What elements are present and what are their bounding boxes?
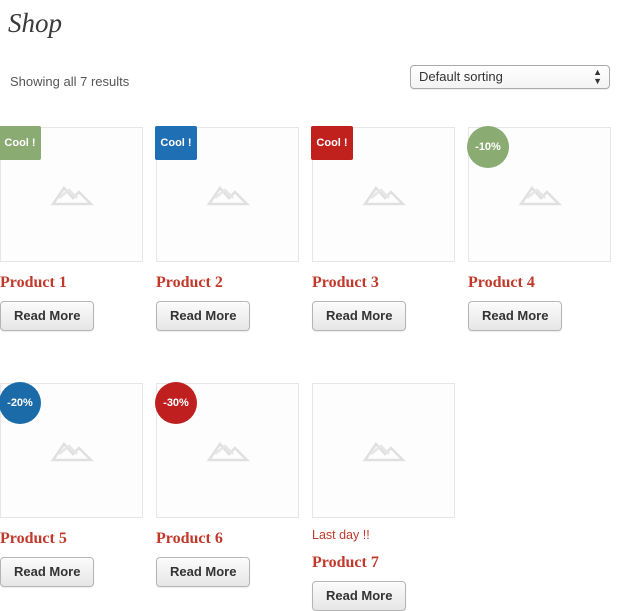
product-title-4[interactable]: Product 4 — [468, 274, 611, 292]
product-badge-3: Cool ! — [311, 126, 353, 160]
product-thumbnail-5[interactable]: -20% — [0, 383, 143, 518]
product-thumbnail-2[interactable]: Cool ! — [156, 127, 299, 262]
product-title-5[interactable]: Product 5 — [0, 530, 143, 548]
product-card-1[interactable]: Cool ! Product 1 Read More — [0, 127, 143, 331]
read-more-button-7[interactable]: Read More — [312, 581, 406, 611]
read-more-button-1[interactable]: Read More — [0, 301, 94, 331]
product-thumbnail-3[interactable]: Cool ! — [312, 127, 455, 262]
result-count: Showing all 7 results — [10, 74, 129, 89]
read-more-button-6[interactable]: Read More — [156, 557, 250, 587]
product-title-6[interactable]: Product 6 — [156, 530, 299, 548]
product-title-2[interactable]: Product 2 — [156, 274, 299, 292]
product-card-7[interactable]: Last day !! Product 7 Read More — [312, 383, 455, 611]
read-more-button-3[interactable]: Read More — [312, 301, 406, 331]
product-badge-2: Cool ! — [155, 126, 197, 160]
product-card-6[interactable]: -30% Product 6 Read More — [156, 383, 299, 587]
read-more-button-2[interactable]: Read More — [156, 301, 250, 331]
read-more-button-5[interactable]: Read More — [0, 557, 94, 587]
product-badge-1: Cool ! — [0, 126, 41, 160]
product-card-2[interactable]: Cool ! Product 2 Read More — [156, 127, 299, 331]
sort-select-value: Default sorting — [419, 69, 503, 84]
product-title-3[interactable]: Product 3 — [312, 274, 455, 292]
product-title-1[interactable]: Product 1 — [0, 274, 143, 292]
shop-page: Shop Showing all 7 results Default sorti… — [0, 0, 618, 602]
read-more-button-4[interactable]: Read More — [468, 301, 562, 331]
product-thumbnail-4[interactable]: -10% — [468, 127, 611, 262]
product-badge-5: -20% — [0, 382, 41, 424]
product-thumbnail-6[interactable]: -30% — [156, 383, 299, 518]
product-note-7: Last day !! — [312, 528, 455, 542]
product-card-4[interactable]: -10% Product 4 Read More — [468, 127, 611, 331]
product-thumbnail-7[interactable] — [312, 383, 455, 518]
placeholder-image-icon — [313, 384, 454, 517]
product-thumbnail-1[interactable]: Cool ! — [0, 127, 143, 262]
product-badge-6: -30% — [155, 382, 197, 424]
product-title-7[interactable]: Product 7 — [312, 554, 455, 572]
product-card-3[interactable]: Cool ! Product 3 Read More — [312, 127, 455, 331]
product-card-5[interactable]: -20% Product 5 Read More — [0, 383, 143, 587]
stepper-arrows-icon[interactable]: ▲ ▼ — [593, 68, 602, 86]
page-title: Shop — [0, 0, 618, 39]
product-badge-4: -10% — [467, 126, 509, 168]
stepper-down-icon[interactable]: ▼ — [593, 77, 602, 86]
shop-toolbar: Showing all 7 results Default sorting ▲ … — [0, 65, 618, 99]
sort-select[interactable]: Default sorting ▲ ▼ — [410, 65, 610, 89]
